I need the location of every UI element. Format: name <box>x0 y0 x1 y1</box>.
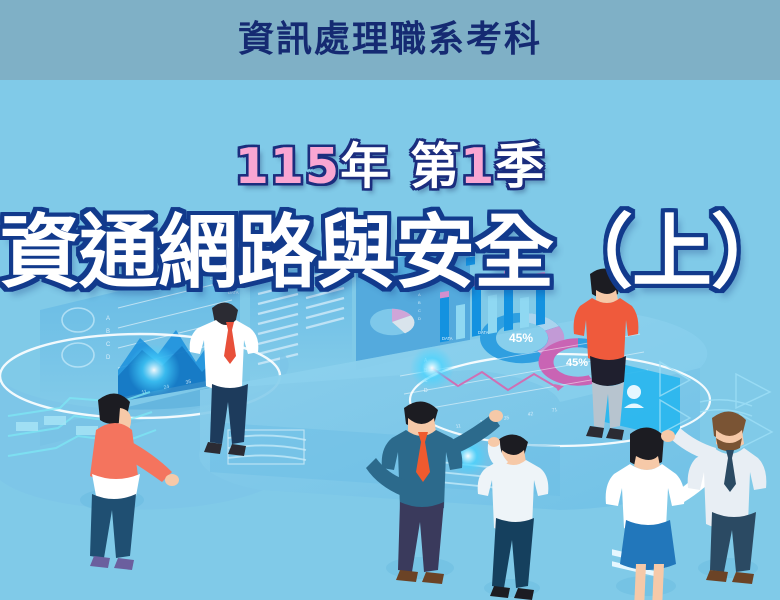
year-quarter-line: 115年第1季 <box>0 142 780 191</box>
quarter-prefix: 第 <box>410 138 460 195</box>
banner-title: 資訊處理職系考科 <box>238 22 542 58</box>
quarter-number: 1 <box>460 138 495 195</box>
svg-text:C: C <box>106 342 111 348</box>
donut-right-label: 45% <box>566 357 588 369</box>
cover-page: 資訊處理職系考科 <box>0 0 780 600</box>
svg-text:DATA: DATA <box>478 330 489 335</box>
quarter-unit: 季 <box>495 138 545 195</box>
svg-text:A: A <box>418 292 421 297</box>
svg-text:C: C <box>418 308 421 313</box>
svg-text:DATA: DATA <box>442 336 453 341</box>
year-number: 115 <box>235 138 340 195</box>
donut-left-label: 45% <box>509 331 533 345</box>
glow-center <box>410 346 454 390</box>
svg-text:B: B <box>418 300 421 305</box>
svg-text:D: D <box>106 355 111 361</box>
header-banner: 資訊處理職系考科 <box>0 0 780 80</box>
year-unit: 年 <box>340 138 390 195</box>
svg-text:A: A <box>106 316 110 322</box>
svg-text:DATA: DATA <box>210 276 221 281</box>
glow-left <box>128 344 180 396</box>
svg-text:D: D <box>418 316 421 321</box>
svg-text:DATA: DATA <box>228 290 239 295</box>
isometric-illustration: AB CD DATADATA <box>0 250 780 600</box>
